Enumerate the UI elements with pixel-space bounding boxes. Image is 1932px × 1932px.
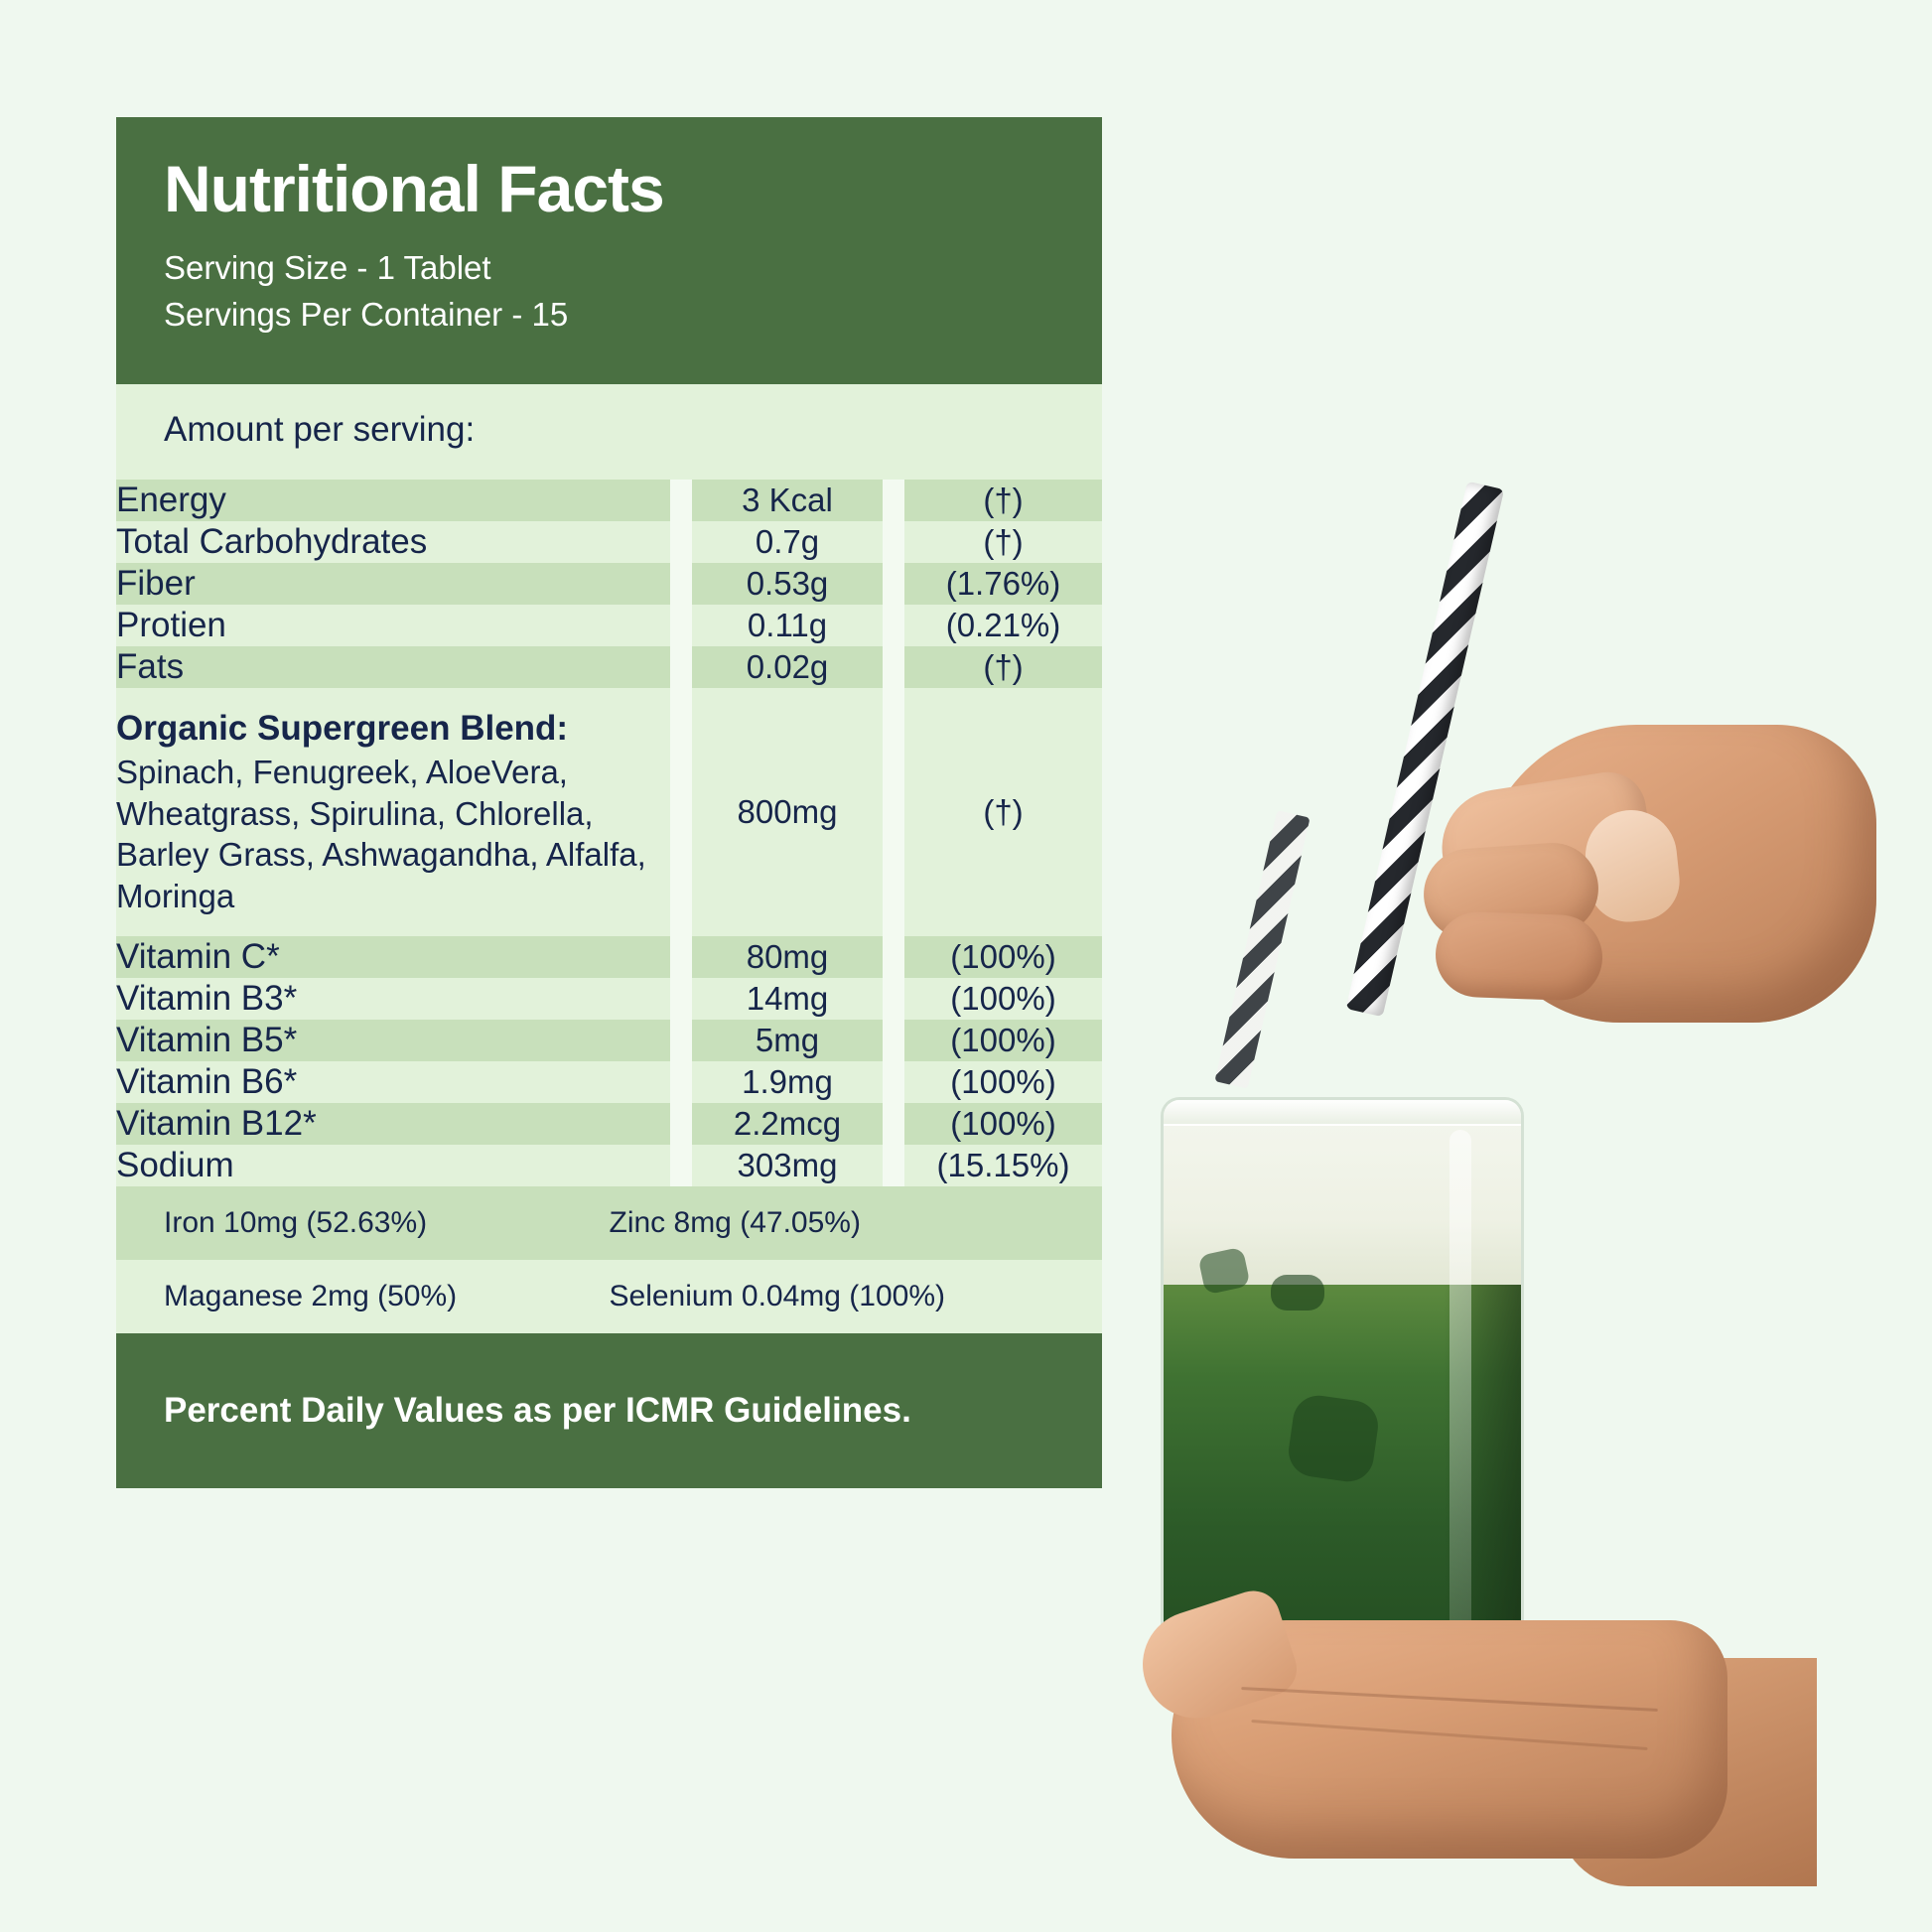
nutrient-name: Vitamin B6* — [116, 1061, 670, 1103]
minerals-table: Iron 10mg (52.63%) Zinc 8mg (47.05%) Mag… — [116, 1186, 1102, 1333]
nutrient-daily-value: (†) — [904, 521, 1102, 563]
column-gap — [883, 688, 904, 936]
column-gap — [670, 1103, 692, 1145]
table-row: Fiber 0.53g (1.76%) — [116, 563, 1102, 605]
nutrients-table: Energy 3 Kcal (†) Total Carbohydrates 0.… — [116, 480, 1102, 1186]
nutrient-name: Protien — [116, 605, 670, 646]
nutrient-daily-value: (100%) — [904, 1020, 1102, 1061]
table-row: Vitamin B12* 2.2mcg (100%) — [116, 1103, 1102, 1145]
column-gap — [883, 480, 904, 521]
nutrient-name: Total Carbohydrates — [116, 521, 670, 563]
column-gap — [670, 563, 692, 605]
nutrient-name: Energy — [116, 480, 670, 521]
nutrient-daily-value: (†) — [904, 646, 1102, 688]
nutrient-name: Fats — [116, 646, 670, 688]
nutrient-amount: 0.53g — [692, 563, 883, 605]
nutrient-amount: 14mg — [692, 978, 883, 1020]
straw-lower-segment — [1214, 810, 1310, 1088]
nutrient-daily-value: (100%) — [904, 1061, 1102, 1103]
column-gap — [670, 521, 692, 563]
card-header: Nutritional Facts Serving Size - 1 Table… — [116, 117, 1102, 384]
table-row: Maganese 2mg (50%) Selenium 0.04mg (100%… — [116, 1260, 1102, 1333]
table-row: Vitamin B6* 1.9mg (100%) — [116, 1061, 1102, 1103]
column-gap — [883, 563, 904, 605]
servings-per-container-text: Servings Per Container - 15 — [164, 292, 1054, 339]
column-gap — [670, 480, 692, 521]
nutrient-amount: 303mg — [692, 1145, 883, 1186]
nutrition-facts-card: Nutritional Facts Serving Size - 1 Table… — [116, 117, 1102, 1488]
column-gap — [883, 646, 904, 688]
column-gap — [883, 1061, 904, 1103]
column-gap — [883, 936, 904, 978]
nutrient-amount: 5mg — [692, 1020, 883, 1061]
nutrient-name: Vitamin B3* — [116, 978, 670, 1020]
upper-hand-finger — [1435, 910, 1604, 1002]
table-row: Total Carbohydrates 0.7g (†) — [116, 521, 1102, 563]
column-gap — [670, 936, 692, 978]
column-gap — [883, 1145, 904, 1186]
serving-size-text: Serving Size - 1 Tablet — [164, 245, 1054, 292]
column-gap — [670, 1061, 692, 1103]
nutrient-daily-value: (100%) — [904, 1103, 1102, 1145]
nutrient-name: Vitamin C* — [116, 936, 670, 978]
column-gap — [670, 605, 692, 646]
nutrient-amount: 80mg — [692, 936, 883, 978]
glass-rim — [1164, 1100, 1521, 1126]
nutrient-amount: 3 Kcal — [692, 480, 883, 521]
page-title: Nutritional Facts — [164, 155, 1054, 223]
nutrient-daily-value: (100%) — [904, 936, 1102, 978]
nutrient-daily-value: (1.76%) — [904, 563, 1102, 605]
table-row: Iron 10mg (52.63%) Zinc 8mg (47.05%) — [116, 1186, 1102, 1260]
column-gap — [670, 978, 692, 1020]
nutrient-name: Sodium — [116, 1145, 670, 1186]
mineral-entry: Selenium 0.04mg (100%) — [610, 1260, 1103, 1333]
nutrient-amount: 0.02g — [692, 646, 883, 688]
blend-title: Organic Supergreen Blend: — [116, 708, 670, 750]
product-photo — [1132, 0, 1932, 1932]
column-gap — [883, 1020, 904, 1061]
lower-hand — [1132, 1549, 1767, 1932]
amount-per-serving-label: Amount per serving: — [116, 384, 1102, 480]
column-gap — [670, 1145, 692, 1186]
mineral-entry: Zinc 8mg (47.05%) — [610, 1186, 1103, 1260]
nutrient-amount: 0.7g — [692, 521, 883, 563]
table-row: Vitamin B3* 14mg (100%) — [116, 978, 1102, 1020]
blend-cell: Organic Supergreen Blend: Spinach, Fenug… — [116, 688, 670, 936]
nutrient-name: Vitamin B12* — [116, 1103, 670, 1145]
nutrient-name: Vitamin B5* — [116, 1020, 670, 1061]
blend-ingredients: Spinach, Fenugreek, AloeVera, Wheatgrass… — [116, 752, 670, 916]
nutrient-name: Fiber — [116, 563, 670, 605]
column-gap — [883, 978, 904, 1020]
mineral-entry: Iron 10mg (52.63%) — [116, 1186, 610, 1260]
table-row: Protien 0.11g (0.21%) — [116, 605, 1102, 646]
nutrient-amount: 1.9mg — [692, 1061, 883, 1103]
nutrient-amount: 0.11g — [692, 605, 883, 646]
table-row: Sodium 303mg (15.15%) — [116, 1145, 1102, 1186]
nutrient-daily-value: (0.21%) — [904, 605, 1102, 646]
nutrient-daily-value: (15.15%) — [904, 1145, 1102, 1186]
nutrient-amount: 800mg — [692, 688, 883, 936]
table-row: Vitamin C* 80mg (100%) — [116, 936, 1102, 978]
column-gap — [670, 688, 692, 936]
table-row: Energy 3 Kcal (†) — [116, 480, 1102, 521]
nutrient-daily-value: (100%) — [904, 978, 1102, 1020]
table-row: Vitamin B5* 5mg (100%) — [116, 1020, 1102, 1061]
nutrient-amount: 2.2mcg — [692, 1103, 883, 1145]
nutrient-daily-value: (†) — [904, 480, 1102, 521]
column-gap — [883, 521, 904, 563]
table-row: Fats 0.02g (†) — [116, 646, 1102, 688]
upper-hand — [1420, 616, 1886, 1082]
column-gap — [883, 1103, 904, 1145]
ice-cube — [1286, 1392, 1382, 1484]
mineral-entry: Maganese 2mg (50%) — [116, 1260, 610, 1333]
column-gap — [670, 646, 692, 688]
column-gap — [670, 1020, 692, 1061]
column-gap — [883, 605, 904, 646]
table-row-supergreen-blend: Organic Supergreen Blend: Spinach, Fenug… — [116, 688, 1102, 936]
ice-cube — [1271, 1275, 1324, 1311]
daily-value-footnote: Percent Daily Values as per ICMR Guideli… — [116, 1333, 1102, 1488]
nutrient-daily-value: (†) — [904, 688, 1102, 936]
